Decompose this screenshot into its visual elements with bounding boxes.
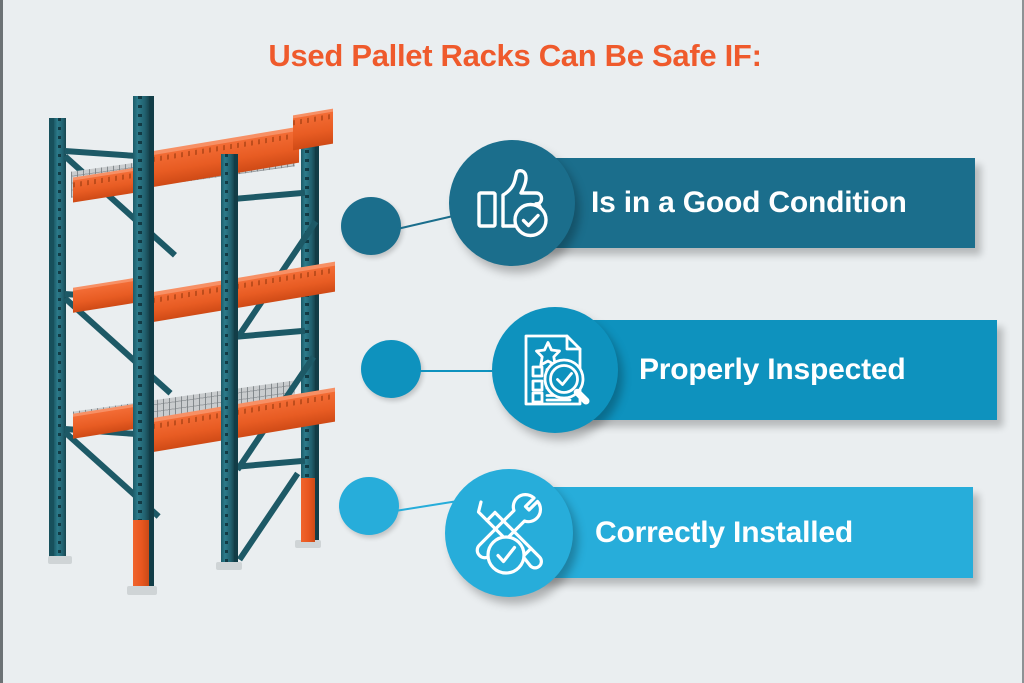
row-label-1: Is in a Good Condition xyxy=(591,186,907,220)
wrench-screwdriver-check-icon xyxy=(445,469,573,597)
rack-upright-front-right xyxy=(221,154,234,564)
row-connector-dot-3 xyxy=(339,477,399,535)
pallet-rack-illustration xyxy=(43,96,333,596)
checklist-magnifier-icon xyxy=(492,307,618,433)
row-connector-dot-1 xyxy=(341,197,401,255)
rack-column-guard-right xyxy=(301,478,315,542)
rack-upright-rear-left xyxy=(54,118,66,558)
page-title: Used Pallet Racks Can Be Safe IF: xyxy=(3,38,1024,74)
thumbs-up-check-icon xyxy=(449,140,575,266)
row-connector-line-2 xyxy=(417,370,497,372)
infographic-canvas: Used Pallet Racks Can Be Safe IF: xyxy=(0,0,1024,683)
row-label-3: Correctly Installed xyxy=(595,516,853,550)
rack-upright-front-left xyxy=(133,96,149,588)
row-banner-3[interactable]: Correctly Installed xyxy=(503,487,973,578)
row-label-2: Properly Inspected xyxy=(639,353,906,387)
row-connector-dot-2 xyxy=(361,340,421,398)
rack-column-guard-left xyxy=(133,520,149,588)
